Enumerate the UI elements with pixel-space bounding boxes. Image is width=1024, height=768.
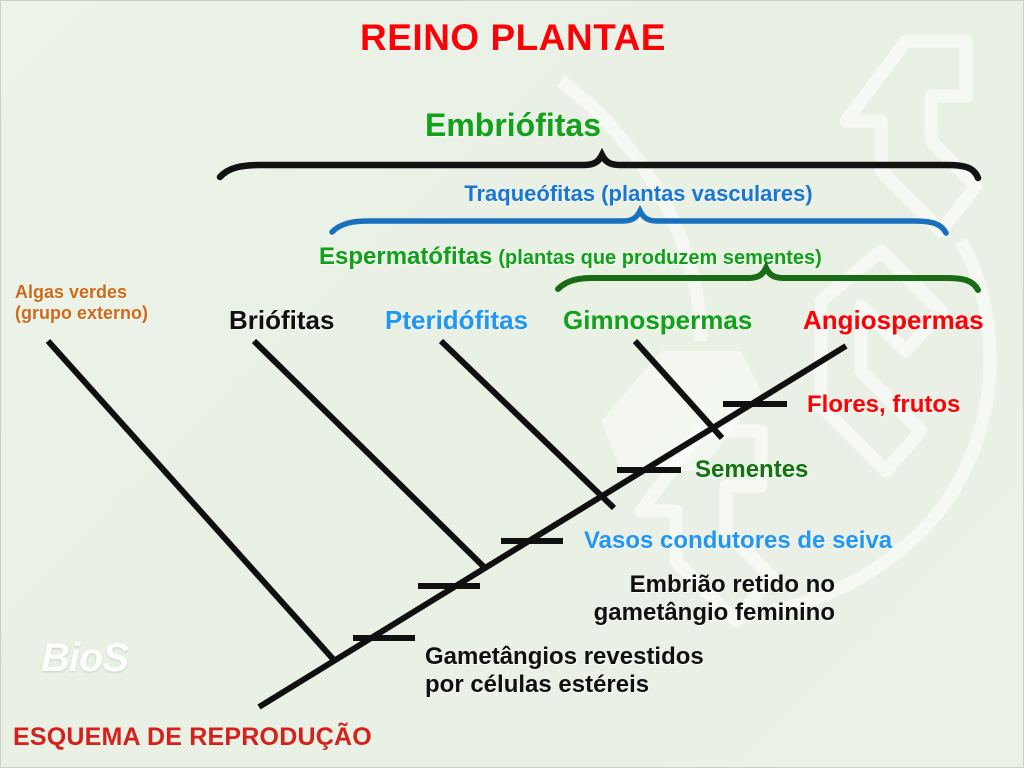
trait-label-flores-frutos: Flores, frutos — [807, 392, 960, 417]
trait-gametangios-line1: Gametângios revestidos — [425, 643, 704, 670]
branch-briofitas — [254, 341, 485, 568]
trait-embriao-line1: Embrião retido no — [630, 571, 835, 598]
diagram-canvas: REINO PLANTAE Embriófitas Traqueófitas (… — [0, 0, 1024, 768]
branch-pteridofitas — [441, 341, 614, 508]
branch-algas-verdes — [48, 341, 333, 659]
footer-note: ESQUEMA DE REPRODUÇÃO — [13, 724, 372, 750]
branch-gimnospermas — [635, 341, 722, 438]
trait-label-vasos-condutores: Vasos condutores de seiva — [584, 528, 892, 553]
trait-label-gametangios-revestidos: Gametângios revestidos por células estér… — [425, 643, 835, 700]
trait-label-sementes: Sementes — [695, 457, 808, 482]
trait-gametangios-line2: por células estéreis — [425, 671, 649, 698]
trait-label-embriao-retido: Embrião retido no gametângio feminino — [431, 571, 835, 628]
trait-embriao-line2: gametângio feminino — [594, 599, 835, 626]
bios-watermark: BioS — [41, 637, 128, 679]
